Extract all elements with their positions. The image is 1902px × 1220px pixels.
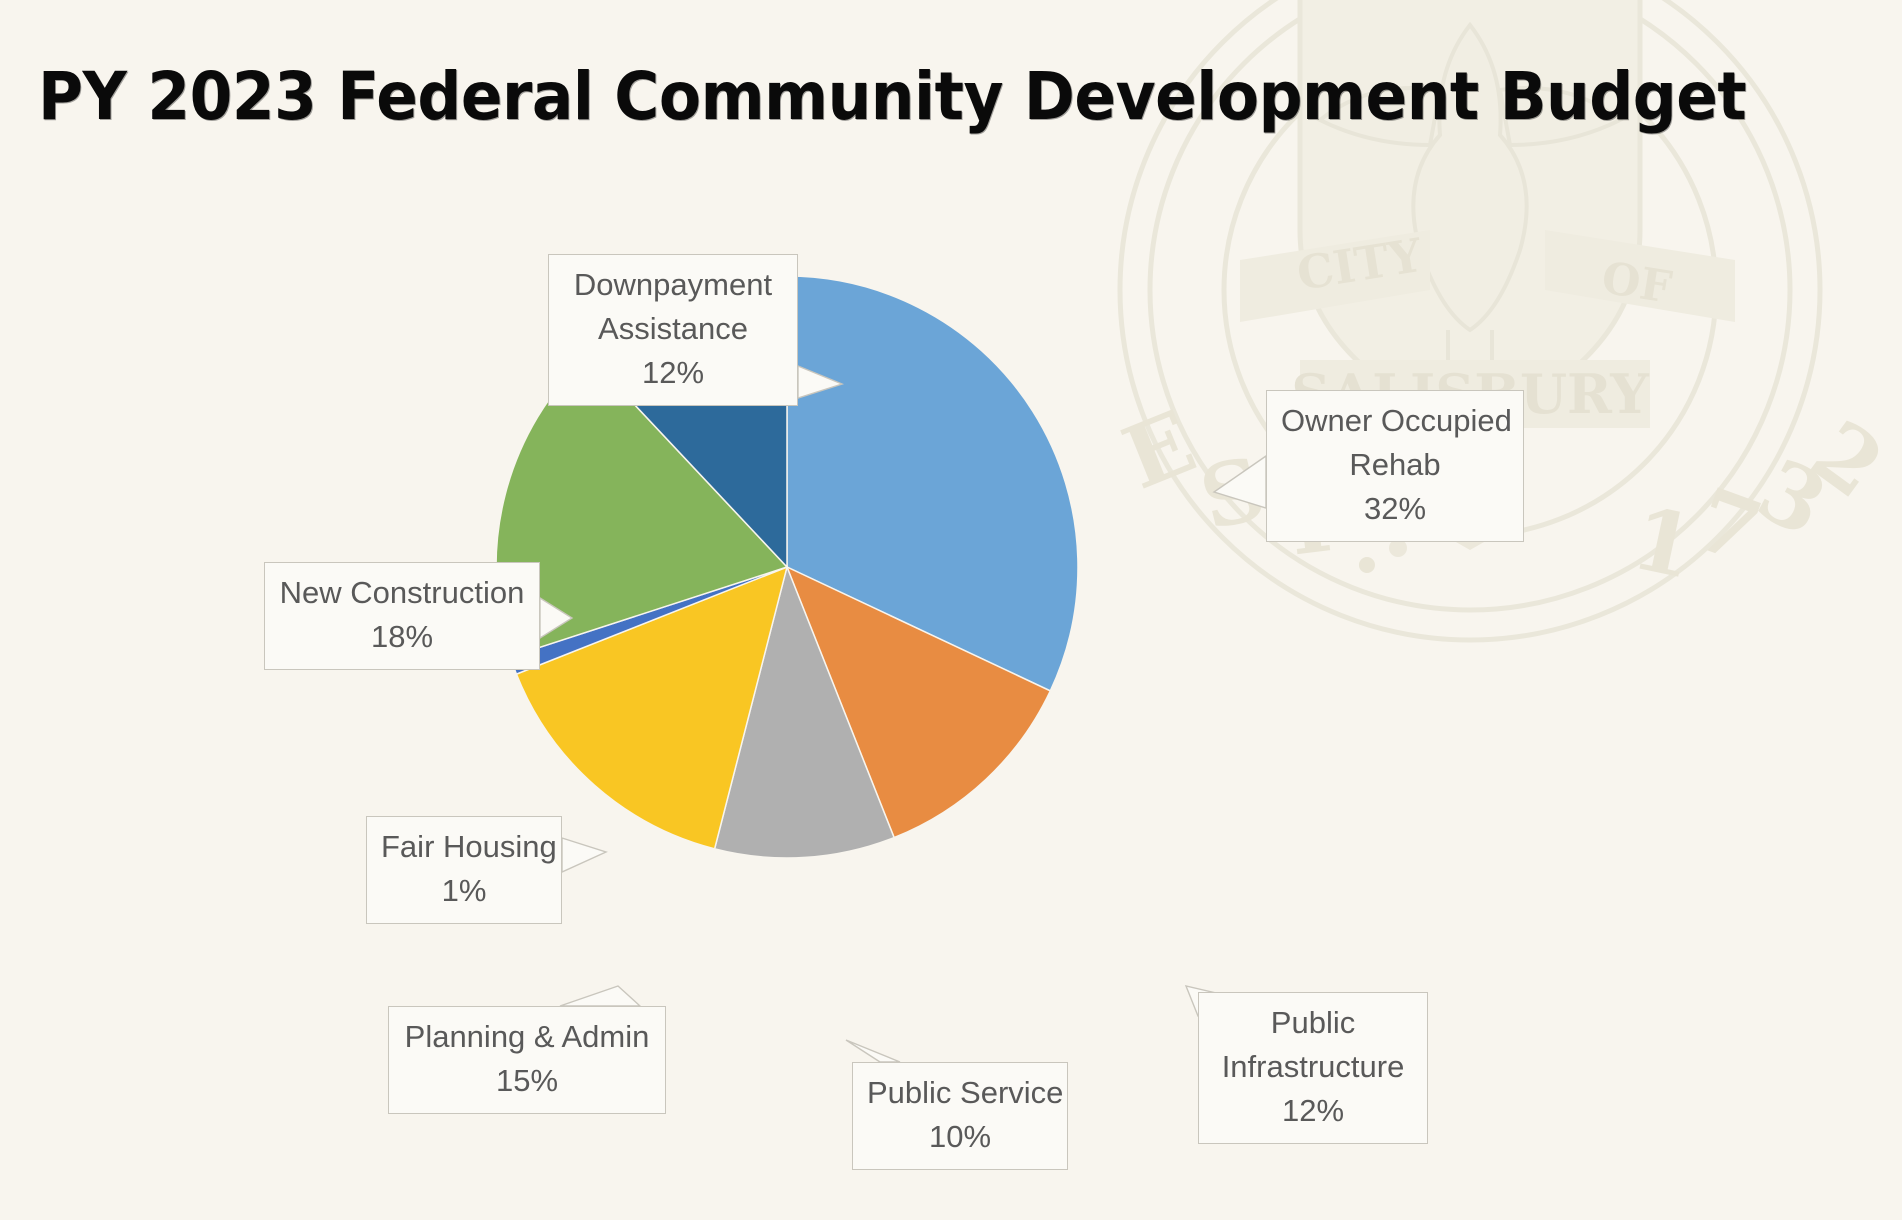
pie-label-public-service: Public Service 10% — [852, 1062, 1068, 1170]
pie-label-line1: Fair Housing — [381, 825, 547, 869]
pie-label-line1: Public Service — [867, 1071, 1053, 1115]
pie-label-percent: 1% — [381, 869, 547, 913]
svg-text:E: E — [1110, 391, 1209, 509]
svg-text:2: 2 — [1794, 401, 1902, 518]
pie-slice-owner-occupied-rehab — [787, 276, 1078, 691]
pie-slice-planning-admin — [516, 567, 787, 849]
pie-label-percent: 15% — [403, 1059, 651, 1103]
svg-text:7: 7 — [1683, 469, 1774, 584]
slide-canvas: CITY OF SALISBURY E S T . 1 7 3 2 — [0, 0, 1902, 1220]
pie-label-percent: 32% — [1281, 487, 1509, 531]
pie-label-owner-occupied-rehab: Owner Occupied Rehab 32% — [1266, 390, 1524, 542]
pie-label-downpayment-assistance: Downpayment Assistance 12% — [548, 254, 798, 406]
svg-text:OF: OF — [1598, 252, 1675, 313]
page-title: PY 2023 Federal Community Development Bu… — [38, 58, 1746, 136]
svg-text:1: 1 — [1624, 488, 1704, 599]
pie-slice-fair-housing — [510, 567, 787, 674]
pie-label-line2: Infrastructure — [1213, 1045, 1413, 1089]
pie-slice-public-infrastructure — [787, 567, 1050, 838]
pie-slice-public-service — [715, 567, 894, 858]
svg-text:CITY: CITY — [1293, 228, 1426, 301]
pie-label-line1: Planning & Admin — [403, 1015, 651, 1059]
pie-label-percent: 12% — [1213, 1089, 1413, 1133]
pie-label-line1: Downpayment — [563, 263, 783, 307]
pie-label-line1: Owner Occupied — [1281, 399, 1509, 443]
pie-label-fair-housing: Fair Housing 1% — [366, 816, 562, 924]
pie-label-public-infrastructure: Public Infrastructure 12% — [1198, 992, 1428, 1144]
pie-label-line1: New Construction — [279, 571, 525, 615]
pie-label-line2: Assistance — [563, 307, 783, 351]
svg-text:S: S — [1191, 437, 1276, 550]
svg-text:3: 3 — [1742, 439, 1842, 556]
pie-label-new-construction: New Construction 18% — [264, 562, 540, 670]
pie-label-line2: Rehab — [1281, 443, 1509, 487]
pie-label-line1: Public — [1213, 1001, 1413, 1045]
pie-label-percent: 18% — [279, 615, 525, 659]
pie-label-percent: 12% — [563, 351, 783, 395]
pie-label-percent: 10% — [867, 1115, 1053, 1159]
pie-label-planning-admin: Planning & Admin 15% — [388, 1006, 666, 1114]
